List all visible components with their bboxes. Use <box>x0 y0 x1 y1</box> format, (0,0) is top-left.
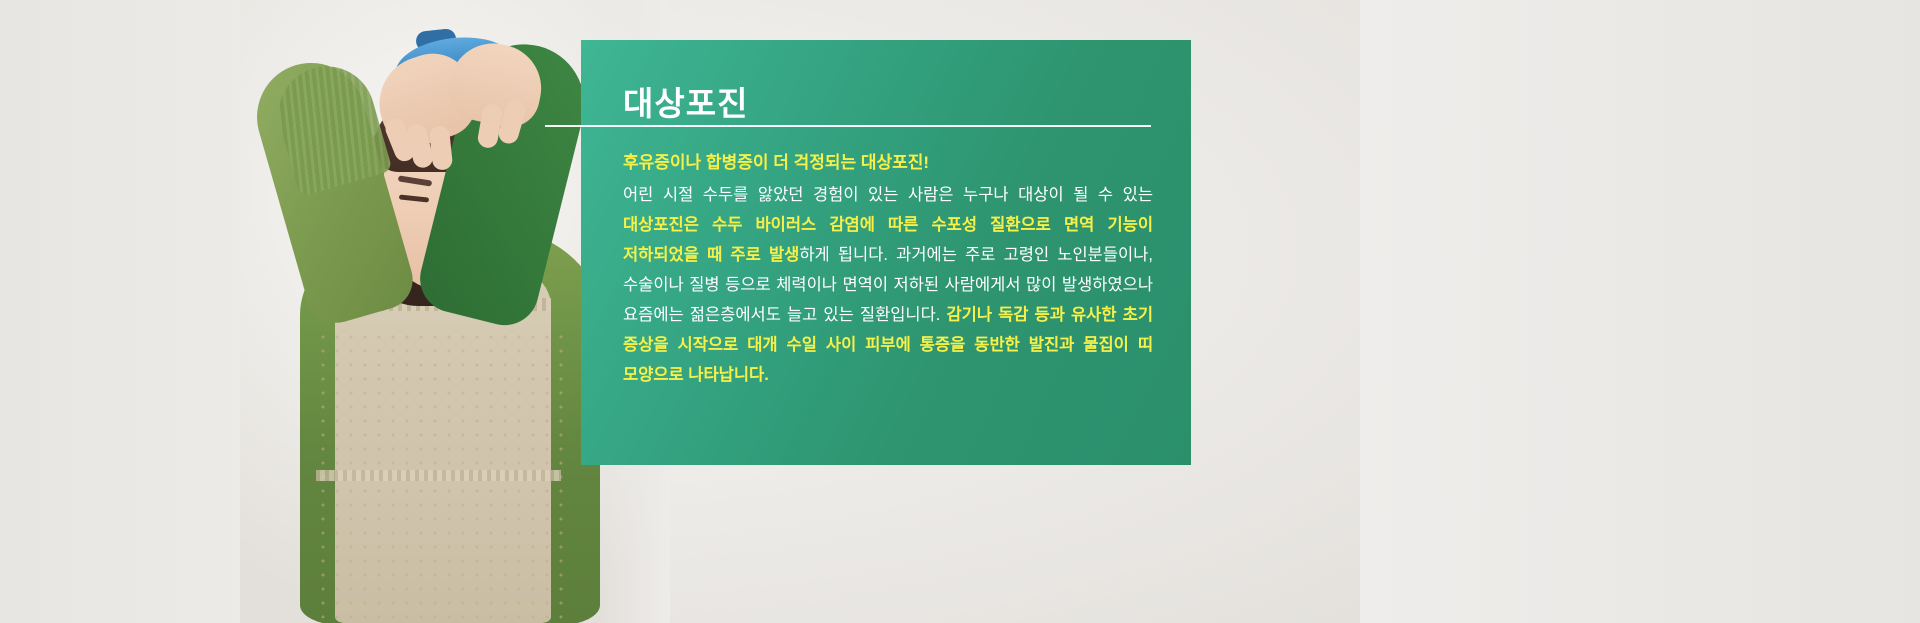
body-segment-0: 어린 시절 수두를 앓았던 경험이 있는 사람은 누구나 대상이 될 수 있는 <box>623 186 1153 204</box>
panel-paragraph: 어린 시절 수두를 앓았던 경험이 있는 사람은 누구나 대상이 될 수 있는 … <box>623 186 1153 384</box>
photo-apron-lace-bottom <box>316 470 561 481</box>
banner-root: 대상포진 후유증이나 합병증이 더 걱정되는 대상포진!어린 시절 수두를 앓았… <box>0 0 1920 623</box>
title-divider-rule <box>545 125 1151 127</box>
panel-lead-text: 후유증이나 합병증이 더 걱정되는 대상포진! <box>623 148 1153 178</box>
panel-body-text: 후유증이나 합병증이 더 걱정되는 대상포진!어린 시절 수두를 앓았던 경험이… <box>623 148 1153 390</box>
page-title: 대상포진 <box>623 86 1153 122</box>
info-panel: 대상포진 후유증이나 합병증이 더 걱정되는 대상포진!어린 시절 수두를 앓았… <box>581 40 1191 465</box>
background-right-fade <box>1360 0 1920 623</box>
